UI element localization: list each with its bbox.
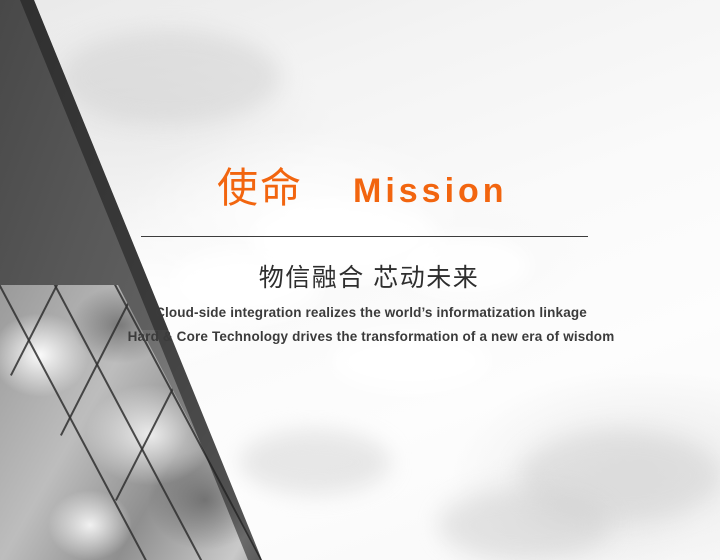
- mission-line-2: Hard & Core Technology drives the transf…: [22, 325, 720, 349]
- page-title: 使命 Mission: [141, 168, 508, 209]
- title-chinese: 使命: [217, 168, 303, 209]
- mission-line-1: Cloud-side integration realizes the worl…: [22, 301, 720, 325]
- slide-content: 使命 Mission 物信融合 芯动未来 Cloud-side integrat…: [0, 0, 720, 560]
- subtitle-chinese: 物信融合 芯动未来: [0, 258, 720, 294]
- mission-statement: Cloud-side integration realizes the worl…: [0, 301, 720, 349]
- title-english: Mission: [353, 174, 508, 208]
- title-divider: [141, 236, 588, 237]
- mission-slide: 使命 Mission 物信融合 芯动未来 Cloud-side integrat…: [0, 0, 720, 560]
